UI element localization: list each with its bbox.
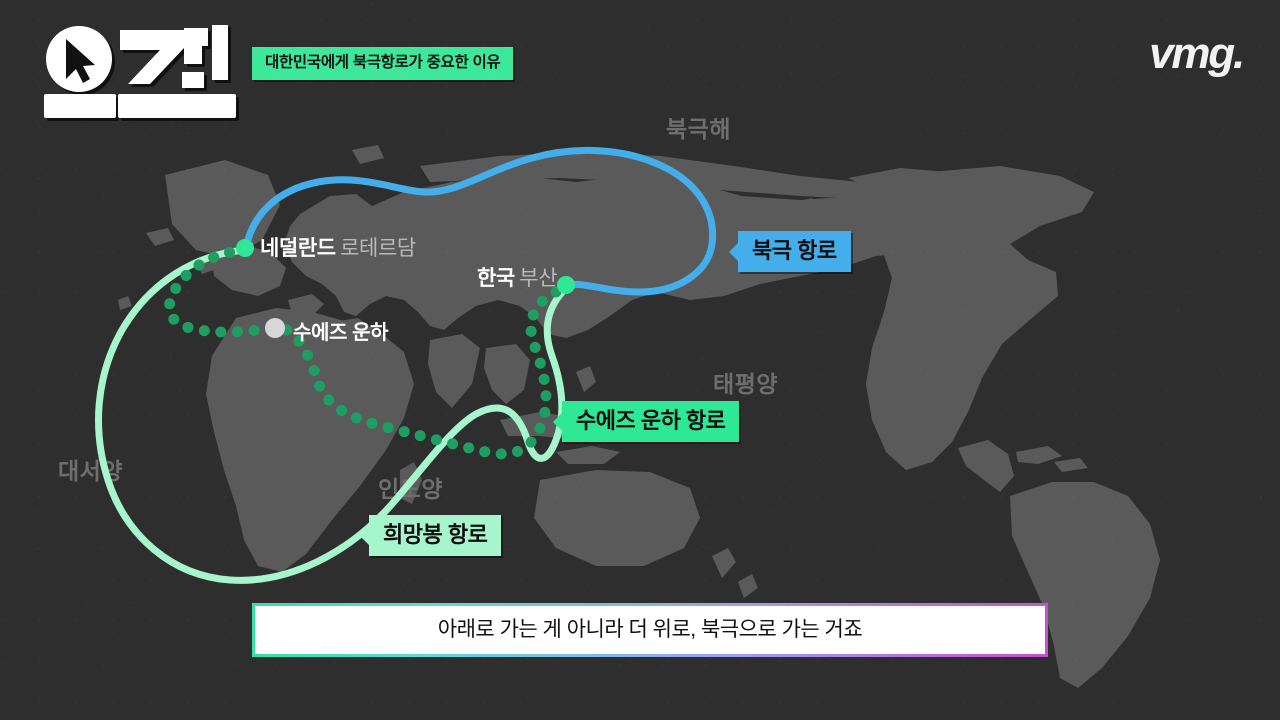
city-name-rotterdam: 로테르담	[340, 237, 416, 260]
route-tag-arctic-label: 북극 항로	[752, 238, 837, 263]
marker-dot-suez-canal	[265, 318, 285, 338]
marker-dot-rotterdam	[236, 239, 254, 257]
poi-label-suez-canal: 수에즈 운하	[293, 323, 388, 343]
channel-logo[interactable]	[32, 22, 247, 127]
city-label-busan: 한국 부산	[477, 268, 557, 289]
city-name-busan: 부산	[519, 267, 557, 290]
city-label-rotterdam: 네덜란드 로테르담	[260, 238, 416, 259]
route-tag-arctic[interactable]: 북극 항로	[738, 231, 851, 272]
subtitle-bar: 아래로 가는 게 아니라 더 위로, 북극으로 가는 거죠	[252, 603, 1048, 657]
route-tag-suez-label: 수에즈 운하 항로	[576, 408, 725, 433]
country-name-netherlands: 네덜란드	[260, 237, 336, 260]
brand-logo-vmg: vmg.	[1149, 32, 1243, 76]
route-tag-cape-label: 희망봉 항로	[383, 522, 487, 547]
headline-banner: 대한민국에게 북극항로가 중요한 이유	[252, 47, 513, 80]
country-name-korea: 한국	[477, 267, 515, 290]
route-tag-cape[interactable]: 희망봉 항로	[369, 515, 501, 556]
video-frame: 북극해 태평양 대서양 인도양 네덜란드 로테르담 한국 부산 수에즈 운하 북…	[0, 0, 1280, 720]
subtitle-text: 아래로 가는 게 아니라 더 위로, 북극으로 가는 거죠	[255, 606, 1045, 654]
route-tag-suez[interactable]: 수에즈 운하 항로	[562, 401, 739, 442]
marker-dot-busan	[557, 276, 575, 294]
headline-text: 대한민국에게 북극항로가 중요한 이유	[265, 54, 500, 71]
